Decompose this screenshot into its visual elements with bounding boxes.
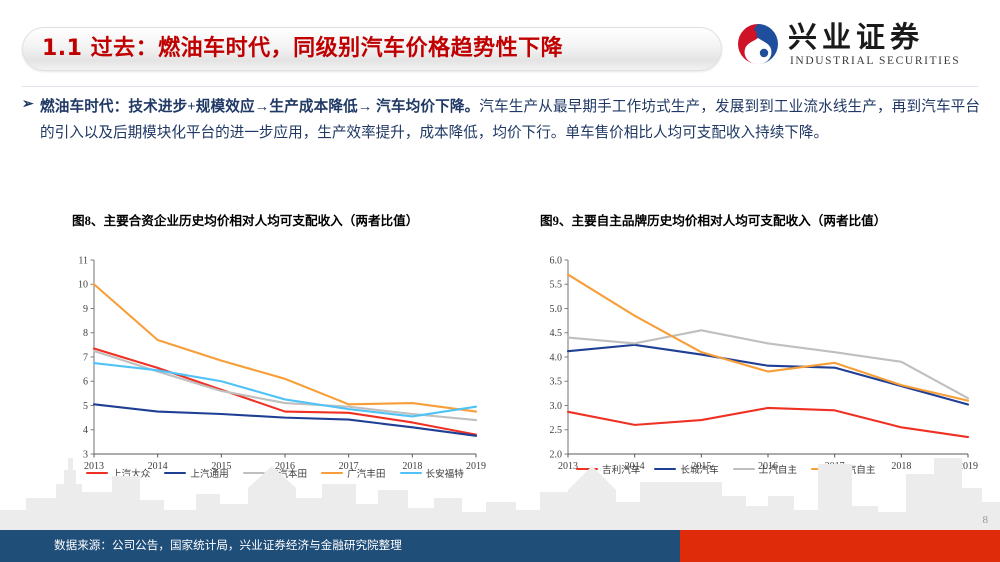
figure-9-title: 图9、主要自主品牌历史均价相对人均可支配收入（两者比值） [540, 210, 886, 229]
svg-text:4.0: 4.0 [550, 352, 563, 363]
page-number: 8 [983, 514, 989, 526]
svg-text:6.0: 6.0 [550, 255, 563, 266]
slide-root: 1.1 过去：燃油车时代，同级别汽车价格趋势性下降 兴业证券 INDUSTRIA… [0, 0, 1000, 562]
body-paragraph: 燃油车时代：技术进步+规模效应→生产成本降低→ 汽车均价下降。汽车生产从最早期手… [22, 94, 980, 146]
svg-text:4.5: 4.5 [550, 328, 563, 339]
svg-text:7: 7 [83, 352, 88, 363]
svg-text:6: 6 [83, 377, 88, 388]
city-skyline-decoration [0, 448, 1000, 530]
logo-chinese-name: 兴业证券 [788, 20, 924, 54]
header-divider [22, 86, 978, 87]
svg-text:10: 10 [78, 280, 88, 291]
logo-english-name: INDUSTRIAL SECURITIES [790, 55, 960, 67]
svg-text:9: 9 [83, 304, 88, 315]
slide-header: 1.1 过去：燃油车时代，同级别汽车价格趋势性下降 兴业证券 INDUSTRIA… [0, 0, 1000, 88]
svg-text:5: 5 [83, 401, 88, 412]
svg-text:11: 11 [78, 255, 88, 266]
figure-8-title: 图8、主要合资企业历史均价相对人均可支配收入（两者比值） [72, 210, 418, 229]
page-title: 1.1 过去：燃油车时代，同级别汽车价格趋势性下降 [42, 31, 702, 67]
bullet-marker-icon: ➢ [22, 96, 34, 113]
svg-text:2.5: 2.5 [550, 425, 563, 436]
svg-text:5.0: 5.0 [550, 304, 563, 315]
company-logo: 兴业证券 INDUSTRIAL SECURITIES [736, 20, 986, 74]
data-source-text: 数据来源：公司公告，国家统计局，兴业证券经济与金融研究院整理 [54, 530, 402, 562]
svg-text:3.5: 3.5 [550, 377, 563, 388]
brand-swirl-icon [736, 22, 780, 66]
slide-footer: 数据来源：公司公告，国家统计局，兴业证券经济与金融研究院整理 [0, 530, 1000, 562]
svg-text:5.5: 5.5 [550, 280, 563, 291]
body-lead-sentence: 燃油车时代：技术进步+规模效应→生产成本降低→ 汽车均价下降。 [40, 99, 479, 115]
body-text-block: ➢ 燃油车时代：技术进步+规模效应→生产成本降低→ 汽车均价下降。汽车生产从最早… [22, 94, 980, 146]
svg-text:8: 8 [83, 328, 88, 339]
svg-text:4: 4 [83, 425, 88, 436]
footer-red-band [680, 530, 1000, 562]
svg-text:3.0: 3.0 [550, 401, 563, 412]
